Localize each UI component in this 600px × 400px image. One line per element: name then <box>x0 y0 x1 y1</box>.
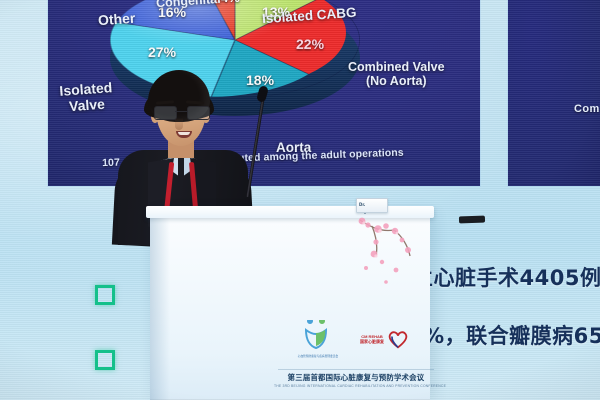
cherry-blossom-graphic <box>352 216 424 300</box>
pie-label-congenital: 4% <box>221 0 240 5</box>
heart-icon <box>387 329 409 349</box>
screen-text-line-2: 0%，联合瓣膜病65 <box>408 320 600 350</box>
screenshot-root: 兰心脏手术4405例， 0%，联合瓣膜病65 <box>0 0 600 400</box>
desk-object <box>459 216 485 224</box>
screen-text-line-1: 兰心脏手术4405例， <box>412 262 600 292</box>
green-square-bullet-icon <box>95 350 115 370</box>
speaker-glasses-icon <box>154 106 210 118</box>
pie-category-combined-valve-l2: (No Aorta) <box>348 74 445 88</box>
pie-category-aorta: Aorta <box>276 140 311 155</box>
conference-subtitle: THE 3RD BEIJING INTERNATIONAL CARDIAC RE… <box>274 384 438 388</box>
pie-category-isolated-valve-l2: Valve <box>69 95 106 113</box>
pie-label-aorta: 18% <box>246 72 274 88</box>
pie-category-isolated-cabg: Isolated CABG <box>262 5 357 27</box>
glasses-lens-left <box>154 106 177 120</box>
organization-logo-left: 心血管预防康复与疾病管理委员会 <box>292 320 344 358</box>
logo-right-line2: 国家心脏康复 <box>360 339 384 344</box>
conference-title: 第三届首都国际心脏康复与预防学术会议 <box>274 372 438 383</box>
green-square-bullet-icon <box>95 285 115 305</box>
glasses-bridge <box>175 111 187 112</box>
pie-category-other: Other <box>97 11 135 29</box>
speaker-nose <box>175 118 183 130</box>
glasses-lens-right <box>187 106 210 120</box>
podium-edge-shadow <box>150 212 170 400</box>
organization-logo-right: CM REHAB 国家心脏康复 <box>360 322 418 356</box>
secondary-slide-text: Com <box>574 103 600 115</box>
pie-category-congenital: Congenital <box>156 0 221 10</box>
pie-category-isolated-valve-l1: Isolated <box>59 79 113 99</box>
presentation-slide-secondary: Com <box>508 0 600 186</box>
pie-category-combined-valve-l1: Combined Valve <box>348 60 445 74</box>
pie-label-isolated-valve: 27% <box>148 44 176 60</box>
pie-label-combined-valve: 22% <box>296 36 324 52</box>
nameplate-text: Dr. <box>359 202 365 207</box>
pie-label-other: 16% <box>158 4 186 20</box>
pie-label-isolated-cabg: 13% <box>262 4 290 20</box>
organization-logo-left-caption: 心血管预防康复与疾病管理委员会 <box>294 354 342 358</box>
podium-divider <box>278 369 434 370</box>
podium-logos: 心血管预防康复与疾病管理委员会 CM REHAB 国家心脏康复 <box>292 318 418 360</box>
nameplate: Dr. <box>356 198 388 213</box>
